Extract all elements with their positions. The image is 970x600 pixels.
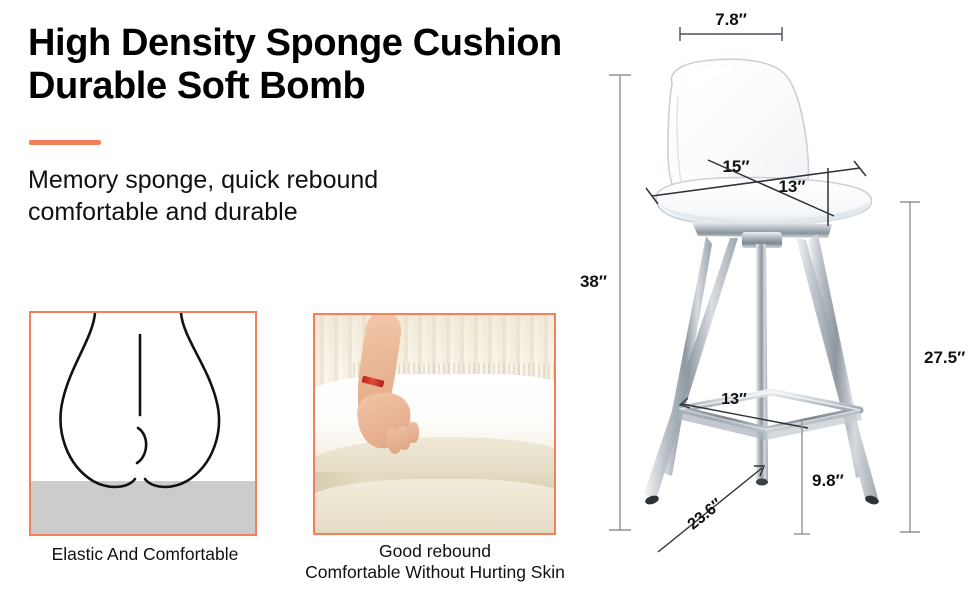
dim-label-7.8: 7.8″ <box>715 10 747 29</box>
finger-3 <box>407 422 420 443</box>
dim-line-7.8 <box>680 27 782 41</box>
dim-label-23.6: 23.6″ <box>685 495 726 533</box>
page-title: High Density Sponge Cushion Durable Soft… <box>28 22 588 109</box>
rebound-caption: Good rebound Comfortable Without Hurting… <box>272 541 598 584</box>
foam-photo <box>315 315 554 533</box>
dim-line-27.5 <box>900 202 920 532</box>
footrest-ring <box>678 392 862 440</box>
dim-line-9.8 <box>794 420 810 534</box>
leg-tip-center <box>756 479 768 486</box>
dim-label-27.5: 27.5″ <box>924 348 965 367</box>
body-outline-right <box>145 313 219 487</box>
dim-label-13-footrest: 13″ <box>721 391 747 408</box>
bar-stool-drawing: 7.8″ 15″ 13″ 38″ <box>560 0 970 600</box>
leg-back-right <box>796 238 878 502</box>
elastic-illustration-panel <box>29 311 257 536</box>
body-cushion-line-drawing <box>31 313 255 534</box>
elastic-caption: Elastic And Comfortable <box>20 544 270 565</box>
infographic-page: High Density Sponge Cushion Durable Soft… <box>0 0 970 600</box>
body-outline-left <box>61 313 135 487</box>
leg-front-center <box>756 244 768 480</box>
dim-label-38: 38″ <box>580 272 607 291</box>
dim-label-9.8: 9.8″ <box>812 471 844 490</box>
foam-layer-2 <box>313 479 556 536</box>
headline-line-2: Durable Soft Bomb <box>28 65 588 108</box>
headline-line-1: High Density Sponge Cushion <box>28 22 588 65</box>
chair-dimension-diagram: 7.8″ 15″ 13″ 38″ <box>560 0 970 600</box>
accent-divider <box>29 140 101 145</box>
dim-label-13-seat: 13″ <box>778 177 805 196</box>
center-curve <box>137 428 146 463</box>
leg-back-left <box>644 238 738 500</box>
subtitle: Memory sponge, quick rebound comfortable… <box>28 165 498 228</box>
dim-line-38 <box>609 75 631 530</box>
subtitle-line-2: comfortable and durable <box>28 197 498 229</box>
subtitle-line-1: Memory sponge, quick rebound <box>28 165 498 197</box>
rebound-photo-panel <box>313 313 556 535</box>
rebound-caption-line-2: Comfortable Without Hurting Skin <box>272 562 598 583</box>
rebound-caption-line-1: Good rebound <box>272 541 598 562</box>
cushion-ground-band <box>31 481 255 534</box>
